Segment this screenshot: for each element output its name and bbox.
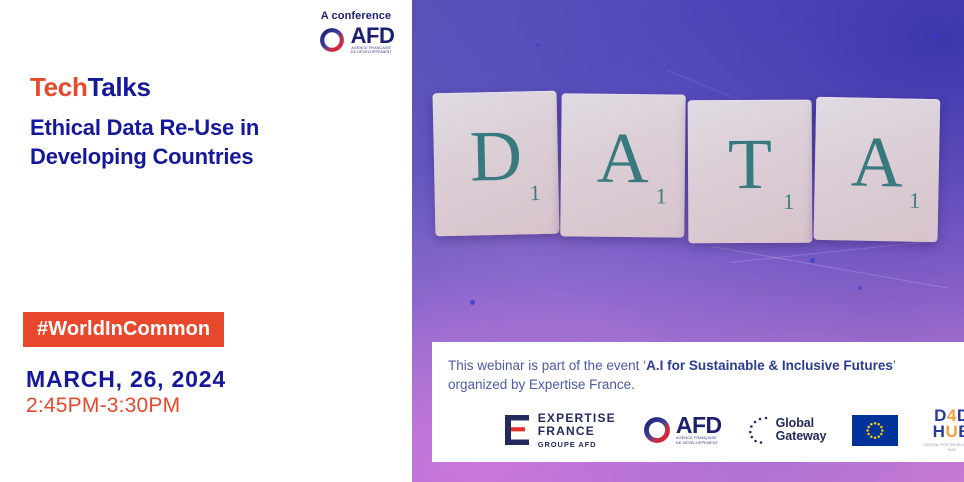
conference-organizer-block: A conference AFD AGENCE FRA — [300, 10, 412, 54]
network-dot — [858, 286, 862, 290]
afd-ring-icon — [318, 26, 346, 54]
afd-abbr: AFD — [351, 26, 395, 46]
expertise-france-wordmark: EXPERTISE FRANCE GROUPE AFD — [538, 412, 616, 448]
afd-partner-logo: AFD AGENCE FRANÇAISE DE DÉVELOPPEMENT — [642, 415, 722, 445]
global-gateway-logo: Global Gateway — [748, 415, 827, 445]
brand-talks: Talks — [88, 72, 151, 102]
tile-score: 1 — [909, 188, 920, 214]
event-time: 2:45PM-3:30PM — [26, 394, 226, 417]
webinar-text-before: This webinar is part of the event ‘ — [448, 358, 646, 373]
afd-wordmark: AFD AGENCE FRANÇAISE DE DÉVELOPPEMENT — [351, 26, 395, 54]
ef-line3: GROUPE AFD — [538, 441, 616, 449]
page-title: Ethical Data Re-Use in Developing Countr… — [30, 114, 390, 171]
scrabble-tile: T 1 — [688, 100, 813, 244]
ef-line2: FRANCE — [538, 425, 616, 438]
d4d-hub-logo: D4D HUB DIGITAL FOR DEVELOPMENT HUB — [924, 408, 964, 453]
d4d-row-2: HUB — [933, 424, 964, 440]
afd-full-name: AGENCE FRANÇAISE DE DÉVELOPPEMENT — [676, 436, 718, 444]
event-date: MARCH, 26, 2024 — [26, 367, 226, 392]
tile-score: 1 — [783, 189, 794, 215]
conference-label: A conference — [300, 10, 412, 22]
network-dot — [470, 300, 475, 305]
webinar-promo-poster: A conference AFD AGENCE FRA — [0, 0, 964, 482]
afd-full-name: AGENCE FRANÇAISE DE DÉVELOPPEMENT — [351, 46, 392, 54]
tile-score: 1 — [656, 183, 667, 209]
scrabble-tile: A 1 — [560, 93, 685, 237]
hashtag-badge: #WorldInCommon — [23, 312, 224, 347]
network-dot — [933, 33, 938, 38]
tile-score: 1 — [529, 180, 541, 206]
network-line — [730, 241, 929, 263]
ef-line1: EXPERTISE — [538, 412, 616, 425]
afd-ring-icon — [642, 415, 672, 445]
network-dot — [536, 43, 540, 47]
expertise-france-mark-icon — [505, 415, 531, 445]
webinar-event-name: A.I for Sustainable & Inclusive Futures — [646, 358, 893, 373]
left-content-panel: A conference AFD AGENCE FRA — [0, 0, 412, 482]
d4d-u: U — [945, 422, 958, 441]
techtalks-brand: TechTalks — [30, 74, 390, 100]
event-datetime-block: MARCH, 26, 2024 2:45PM-3:30PM — [26, 367, 226, 417]
d4d-b: B — [958, 422, 964, 441]
brand-tech: Tech — [30, 72, 88, 102]
scrabble-tile: D 1 — [433, 91, 560, 237]
network-dot — [810, 258, 815, 263]
webinar-description: This webinar is part of the event ‘A.I f… — [432, 342, 964, 394]
webinar-info-box: This webinar is part of the event ‘A.I f… — [432, 342, 964, 462]
partner-logo-strip: EXPERTISE FRANCE GROUPE AFD — [432, 400, 964, 460]
expertise-france-logo: EXPERTISE FRANCE GROUPE AFD — [505, 412, 616, 448]
afd-logo: AFD AGENCE FRANÇAISE DE DÉVELOPPEMENT — [300, 26, 412, 54]
tile-letter: A — [814, 125, 939, 199]
global-gateway-stars-icon — [748, 415, 772, 445]
european-union-flag-icon — [852, 415, 898, 446]
d4d-tagline: DIGITAL FOR DEVELOPMENT HUB — [924, 443, 964, 452]
scrabble-tile: A 1 — [814, 97, 941, 242]
global-gateway-wordmark: Global Gateway — [776, 417, 827, 443]
eu-flag-logo — [852, 415, 898, 446]
network-dot — [782, 12, 786, 16]
hero-image-panel: D 1 A 1 T 1 A 1 This webinar is part of … — [412, 0, 964, 482]
afd-wordmark: AFD AGENCE FRANÇAISE DE DÉVELOPPEMENT — [676, 415, 722, 445]
headline-block: TechTalks Ethical Data Re-Use in Develop… — [30, 74, 390, 171]
d4d-h: H — [933, 422, 946, 441]
scrabble-tiles-group: D 1 A 1 T 1 A 1 — [434, 92, 944, 242]
gg-line2: Gateway — [776, 430, 827, 443]
afd-abbr: AFD — [676, 415, 722, 436]
